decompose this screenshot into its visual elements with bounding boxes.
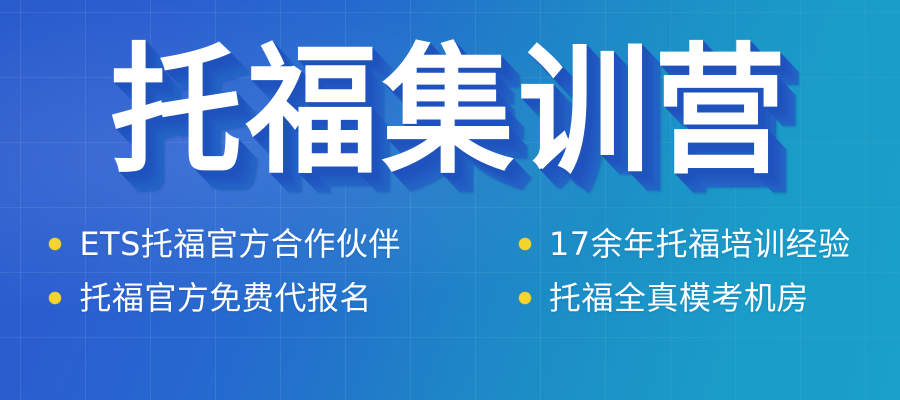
bullet-dot-icon (519, 238, 531, 250)
background-grid (0, 0, 900, 400)
list-item: 托福官方免费代报名 (49, 282, 401, 314)
background-glow (0, 0, 900, 400)
feature-column-left: ETS托福官方合作伙伴 托福官方免费代报名 (49, 228, 401, 314)
feature-label: ETS托福官方合作伙伴 (79, 228, 401, 260)
list-item: 17余年托福培训经验 (519, 228, 851, 260)
bullet-dot-icon (49, 292, 61, 304)
toefl-bootcamp-banner: 托福集训营 ETS托福官方合作伙伴 托福官方免费代报名 17余年托福培训经验 托… (0, 0, 900, 400)
list-item: ETS托福官方合作伙伴 (49, 228, 401, 260)
banner-title-container: 托福集训营 (0, 42, 900, 174)
feature-label: 托福全真模考机房 (549, 282, 809, 314)
feature-list: ETS托福官方合作伙伴 托福官方免费代报名 17余年托福培训经验 托福全真模考机… (0, 228, 900, 314)
bullet-dot-icon (519, 292, 531, 304)
feature-column-right: 17余年托福培训经验 托福全真模考机房 (519, 228, 851, 314)
list-item: 托福全真模考机房 (519, 282, 851, 314)
feature-label: 17余年托福培训经验 (549, 228, 851, 260)
bullet-dot-icon (49, 238, 61, 250)
background-gradient-overlay (0, 0, 900, 400)
feature-label: 托福官方免费代报名 (79, 282, 372, 314)
page-title: 托福集训营 (110, 42, 790, 182)
